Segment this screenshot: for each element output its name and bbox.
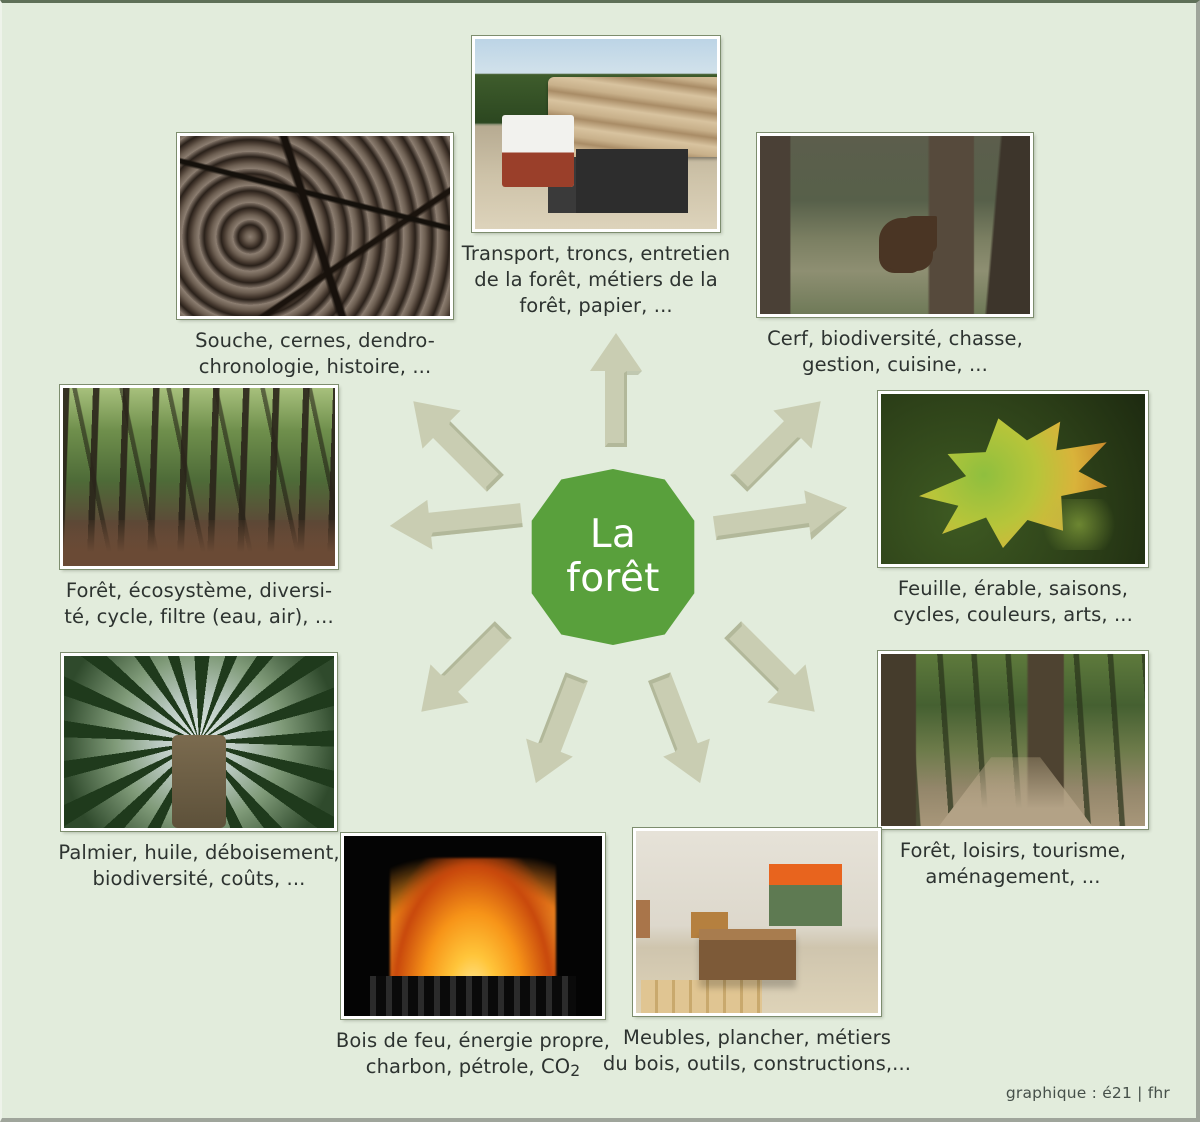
node-transport-caption: Transport, troncs, entretien de la forêt… (457, 241, 735, 319)
carpentry-workshop-photo (633, 828, 881, 1016)
arrow-up (586, 331, 646, 449)
node-transport[interactable]: Transport, troncs, entretien de la forêt… (457, 36, 735, 319)
caption-line: du bois, outils, constructions,... (602, 1051, 912, 1077)
caption-line: Feuille, érable, saisons, (874, 576, 1152, 602)
node-woodwork[interactable]: Meubles, plancher, métiers du bois, outi… (602, 828, 912, 1077)
node-dendrochronology[interactable]: Souche, cernes, dendro- chronologie, his… (170, 133, 460, 380)
node-deforestation[interactable]: Palmier, huile, déboisement, biodiversit… (54, 653, 344, 892)
caption-line: té, cycle, filtre (eau, air), ... (54, 604, 344, 630)
caption-line: charbon, pétrole, CO2 (332, 1054, 614, 1082)
caption-line-text: charbon, pétrole, CO (366, 1055, 570, 1078)
node-ecosystem[interactable]: Forêt, écosystème, diversi- té, cycle, f… (54, 385, 344, 630)
node-leaf-seasons-caption: Feuille, érable, saisons, cycles, couleu… (874, 576, 1152, 628)
center-node-la-foret[interactable]: La forêt (525, 469, 701, 645)
arrow-right (708, 487, 852, 551)
center-node-line1: La (590, 512, 636, 557)
caption-line: Forêt, loisirs, tourisme, (874, 838, 1152, 864)
node-deforestation-caption: Palmier, huile, déboisement, biodiversit… (54, 840, 344, 892)
graphic-credit: graphique : é21 | fhr (1006, 1084, 1170, 1102)
center-node-label: La forêt (566, 513, 660, 600)
node-energy[interactable]: Bois de feu, énergie propre, charbon, pé… (332, 833, 614, 1081)
arrow-up-left (390, 378, 520, 508)
caption-line: Forêt, écosystème, diversi- (54, 578, 344, 604)
node-leisure-caption: Forêt, loisirs, tourisme, aménagement, .… (874, 838, 1152, 890)
caption-line: biodiversité, coûts, ... (54, 866, 344, 892)
caption-line: Transport, troncs, entretien (457, 241, 735, 267)
fire-photo (341, 833, 605, 1019)
node-leaf-seasons[interactable]: Feuille, érable, saisons, cycles, couleu… (874, 391, 1152, 628)
node-wildlife[interactable]: Cerf, biodiversité, chasse, gestion, cui… (754, 133, 1036, 378)
arrow-left (386, 493, 526, 555)
node-energy-caption: Bois de feu, énergie propre, charbon, pé… (332, 1028, 614, 1081)
deer-photo (757, 133, 1033, 317)
node-leisure[interactable]: Forêt, loisirs, tourisme, aménagement, .… (874, 651, 1152, 890)
logging-truck-photo (472, 36, 720, 232)
node-woodwork-caption: Meubles, plancher, métiers du bois, outi… (602, 1025, 912, 1077)
arrow-down-right-lower (624, 663, 734, 793)
caption-line: Cerf, biodiversité, chasse, (754, 326, 1036, 352)
caption-line: Bois de feu, énergie propre, (332, 1028, 614, 1054)
caption-line: Meubles, plancher, métiers (602, 1025, 912, 1051)
forest-path-hikers-photo (878, 651, 1148, 829)
caption-line: aménagement, ... (874, 864, 1152, 890)
caption-line: cycles, couleurs, arts, ... (874, 602, 1152, 628)
caption-line: gestion, cuisine, ... (754, 352, 1036, 378)
maple-leaf-photo (878, 391, 1148, 567)
tree-rings-photo (177, 133, 453, 319)
forest-understory-photo (60, 385, 338, 569)
caption-line: forêt, papier, ... (457, 293, 735, 319)
arrow-down-left-lower (502, 663, 612, 793)
palm-tree-photo (61, 653, 337, 831)
caption-line: de la forêt, métiers de la (457, 267, 735, 293)
node-wildlife-caption: Cerf, biodiversité, chasse, gestion, cui… (754, 326, 1036, 378)
caption-subscript: 2 (570, 1062, 580, 1080)
caption-line: Palmier, huile, déboisement, (54, 840, 344, 866)
center-node-line2: forêt (566, 556, 660, 601)
caption-line: Souche, cernes, dendro- (170, 328, 460, 354)
caption-line: chronologie, histoire, ... (170, 354, 460, 380)
node-dendrochronology-caption: Souche, cernes, dendro- chronologie, his… (170, 328, 460, 380)
node-ecosystem-caption: Forêt, écosystème, diversi- té, cycle, f… (54, 578, 344, 630)
poster-canvas: La forêt Transport, troncs, entretien de… (0, 0, 1200, 1122)
